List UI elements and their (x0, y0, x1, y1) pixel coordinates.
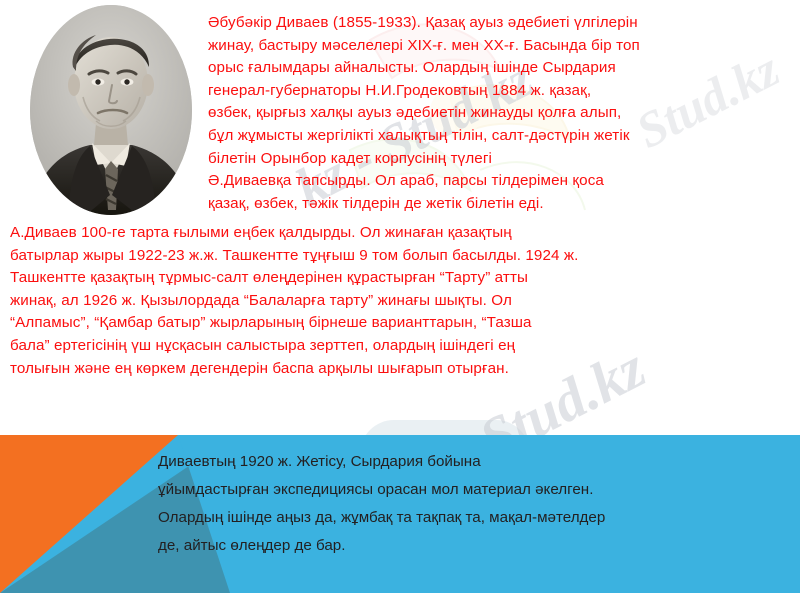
text-line: Ташкентте қазақтың тұрмыс-салт өлеңдерін… (10, 267, 792, 290)
portrait-image (30, 5, 192, 215)
text-line: А.Диваев 100-ге тарта ғылыми еңбек қалды… (10, 222, 792, 245)
text-line: батырлар жыры 1922-23 ж.ж. Ташкентте тұң… (10, 245, 792, 268)
text-line: қазақ, өзбек, тәжік тілдерін де жетік бі… (208, 193, 794, 216)
text-line: “Алпамыс”, “Қамбар батыр” жырларының бір… (10, 312, 792, 335)
text-line: толығын және ең көркем дегендерін баспа … (10, 358, 792, 381)
text-line: бала” ертегісінің үш нұсқасын салыстыра … (10, 335, 792, 358)
slide-canvas: Stud.kz kz - Stud.kz kz - Stud.kz Stud.k… (0, 0, 800, 593)
text-line: де, айтыс өлеңдер де бар. (158, 532, 798, 560)
text-line: Әбубәкір Диваев (1855-1933). Қазақ ауыз … (208, 12, 794, 35)
text-line: Диваевтың 1920 ж. Жетісу, Сырдария бойын… (158, 448, 798, 476)
text-line: жинақ, ал 1926 ж. Қызылордада “Балаларға… (10, 290, 792, 313)
text-line: жинау, бастыру мәселелері ХІХ-ғ. мен ХХ-… (208, 35, 794, 58)
text-line: ұйымдастырған экспедициясы орасан мол ма… (158, 476, 798, 504)
portrait-photo (30, 5, 192, 215)
text-line: Ә.Диваевқа тапсырды. Ол араб, парсы тілд… (208, 170, 794, 193)
text-line: білетін Орынбор кадет корпусінің түлегі (208, 148, 794, 171)
paragraph-middle-red: А.Диваев 100-ге тарта ғылыми еңбек қалды… (10, 222, 792, 380)
text-line: Олардың ішінде аңыз да, жұмбақ та тақпақ… (158, 504, 798, 532)
text-line: бұл жұмысты жергілікті халықтың тілін, с… (208, 125, 794, 148)
paragraph-bottom-dark: Диваевтың 1920 ж. Жетісу, Сырдария бойын… (158, 448, 798, 560)
text-line: генерал-губернаторы Н.И.Гродековтың 1884… (208, 80, 794, 103)
paragraph-top-red: Әбубәкір Диваев (1855-1933). Қазақ ауыз … (208, 12, 794, 215)
text-line: орыс ғалымдары айналысты. Олардың ішінде… (208, 57, 794, 80)
text-line: өзбек, қырғыз халқы ауыз әдебиетін жинау… (208, 102, 794, 125)
